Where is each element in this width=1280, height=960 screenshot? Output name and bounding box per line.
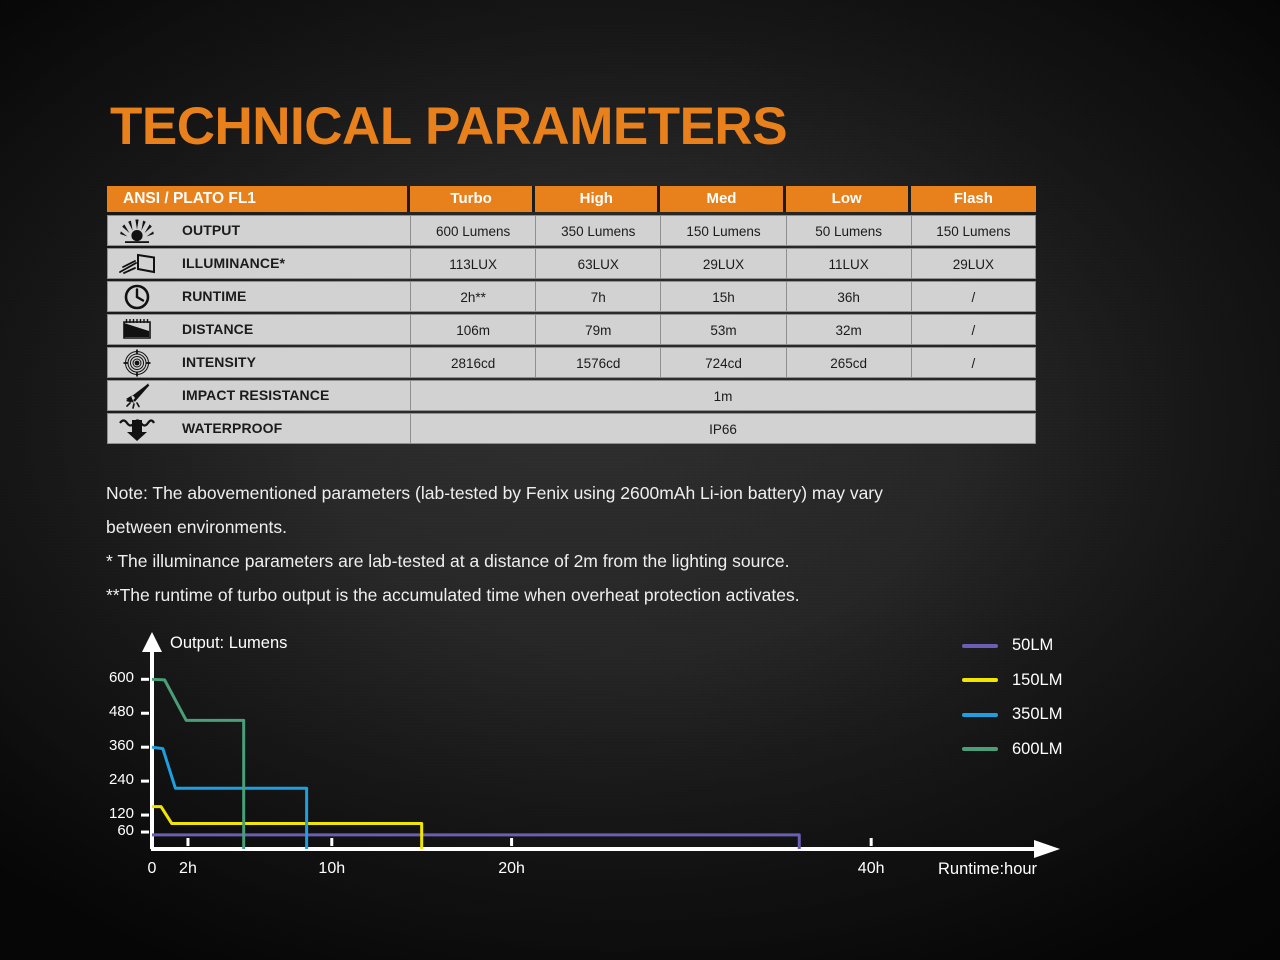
cell-illuminance-high: 63LUX [535,248,660,279]
y-tick-label: 240 [88,771,134,788]
cell-intensity-high: 1576cd [535,347,660,378]
row-label-text: RUNTIME [166,281,246,312]
table-header-med: Med [660,186,785,212]
chart-x-axis-title: Runtime:hour [938,860,1037,879]
chart-line-350lm [152,747,307,849]
y-tick-label: 60 [88,822,134,839]
table-row: RUNTIME 2h** 7h 15h 36h / [107,281,1036,312]
table-header-turbo: Turbo [410,186,535,212]
chart-line-150lm [152,807,422,849]
clock-icon [108,282,166,311]
table-header-high: High [535,186,660,212]
beam-projection-icon [108,249,166,278]
row-label-distance: DISTANCE [107,314,410,345]
table-row: DISTANCE 106m 79m 53m 32m / [107,314,1036,345]
table-header-low: Low [786,186,911,212]
cell-intensity-low: 265cd [786,347,911,378]
note-line-2: between environments. [106,510,1066,544]
legend-swatch [962,678,998,682]
table-row: INTENSITY 2816cd 1576cd 724cd 265cd / [107,347,1036,378]
cell-intensity-med: 724cd [660,347,785,378]
legend-swatch [962,644,998,648]
specifications-table: ANSI / PLATO FL1 Turbo High Med Low Flas… [107,186,1036,446]
target-intensity-icon [108,348,166,377]
chart-series [152,679,799,849]
cell-distance-low: 32m [786,314,911,345]
x-tick-label: 10h [292,860,372,878]
note-line-1: Note: The abovementioned parameters (lab… [106,476,1066,510]
x-tick-label: 20h [472,860,552,878]
chart-axes [141,632,1060,858]
x-tick-label: 2h [148,860,228,878]
row-label-text: IMPACT RESISTANCE [166,380,329,411]
y-tick-label: 120 [88,805,134,822]
row-label-runtime: RUNTIME [107,281,410,312]
chart-line-50lm [152,835,799,849]
distance-ruler-icon [108,315,166,344]
cell-runtime-med: 15h [660,281,785,312]
page-title: TECHNICAL PARAMETERS [110,100,787,153]
legend-label: 350LM [1012,705,1062,724]
cell-output-turbo: 600 Lumens [410,215,535,246]
cell-output-flash: 150 Lumens [911,215,1036,246]
table-header-row: ANSI / PLATO FL1 Turbo High Med Low Flas… [107,186,1036,212]
note-line-3: * The illuminance parameters are lab-tes… [106,544,1066,578]
note-line-4: **The runtime of turbo output is the acc… [106,578,1066,612]
cell-runtime-high: 7h [535,281,660,312]
cell-intensity-flash: / [911,347,1036,378]
y-tick-label: 600 [88,669,134,686]
table-header-label: ANSI / PLATO FL1 [107,186,410,212]
row-label-text: OUTPUT [166,215,240,246]
legend-label: 150LM [1012,671,1062,690]
legend-item: 150LM [962,671,1062,690]
cell-distance-med: 53m [660,314,785,345]
cell-distance-flash: / [911,314,1036,345]
cell-runtime-turbo: 2h** [410,281,535,312]
legend-swatch [962,747,998,751]
table-row: ILLUMINANCE* 113LUX 63LUX 29LUX 11LUX 29… [107,248,1036,279]
table-row: IMPACT RESISTANCE 1m [107,380,1036,411]
table-header-flash: Flash [911,186,1036,212]
row-label-impact-resistance: IMPACT RESISTANCE [107,380,410,411]
impact-resistance-icon [108,381,166,410]
table-row: WATERPROOF IP66 [107,413,1036,444]
row-label-text: INTENSITY [166,347,256,378]
row-label-text: ILLUMINANCE* [166,248,285,279]
cell-waterproof-value: IP66 [410,413,1036,444]
cell-illuminance-med: 29LUX [660,248,785,279]
row-label-waterproof: WATERPROOF [107,413,410,444]
legend-item: 350LM [962,705,1062,724]
legend-label: 600LM [1012,740,1062,759]
cell-intensity-turbo: 2816cd [410,347,535,378]
notes-block: Note: The abovementioned parameters (lab… [106,476,1066,612]
cell-impact-resistance-value: 1m [410,380,1036,411]
x-tick-label: 40h [831,860,911,878]
row-label-illuminance: ILLUMINANCE* [107,248,410,279]
cell-distance-high: 79m [535,314,660,345]
row-label-intensity: INTENSITY [107,347,410,378]
cell-output-high: 350 Lumens [535,215,660,246]
table-row: OUTPUT 600 Lumens 350 Lumens 150 Lumens … [107,215,1036,246]
row-label-text: WATERPROOF [166,413,282,444]
cell-output-low: 50 Lumens [786,215,911,246]
sunburst-icon [108,216,166,245]
cell-illuminance-low: 11LUX [786,248,911,279]
row-label-text: DISTANCE [166,314,253,345]
cell-runtime-flash: / [911,281,1036,312]
cell-illuminance-turbo: 113LUX [410,248,535,279]
row-label-output: OUTPUT [107,215,410,246]
y-tick-label: 360 [88,737,134,754]
cell-illuminance-flash: 29LUX [911,248,1036,279]
legend-item: 600LM [962,740,1062,759]
cell-runtime-low: 36h [786,281,911,312]
cell-output-med: 150 Lumens [660,215,785,246]
legend-swatch [962,713,998,717]
chart-line-600lm [152,679,244,849]
chart-y-axis-title: Output: Lumens [170,634,287,653]
y-tick-label: 480 [88,703,134,720]
legend-label: 50LM [1012,636,1053,655]
legend-item: 50LM [962,636,1053,655]
waterproof-icon [108,414,166,443]
cell-distance-turbo: 106m [410,314,535,345]
